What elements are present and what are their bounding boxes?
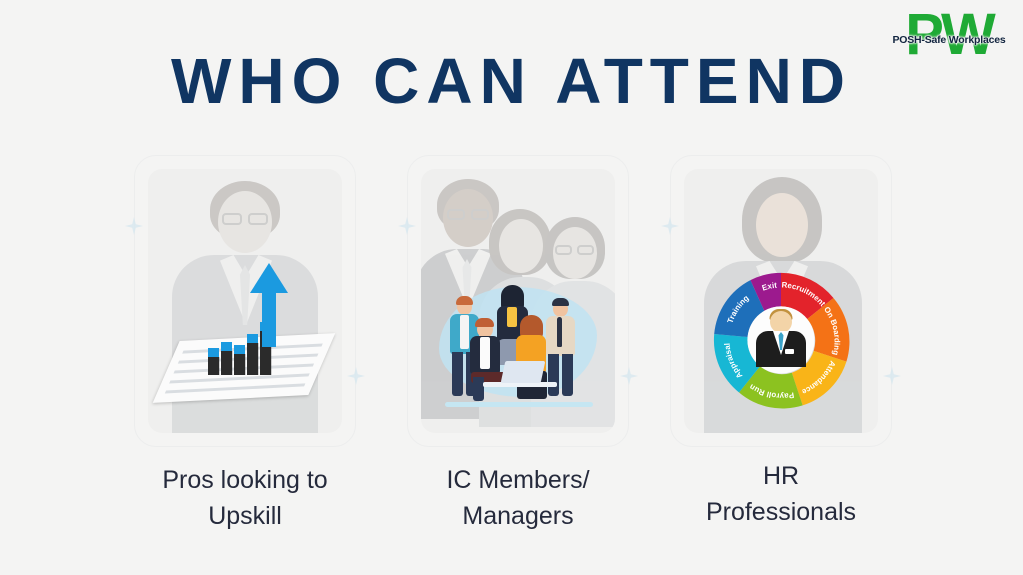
logo-tagline: POSH-Safe Workplaces xyxy=(883,34,1015,46)
caption-row: Pros looking to Upskill IC Members/ Mana… xyxy=(0,462,1023,552)
card-pros-upskill[interactable] xyxy=(134,155,356,447)
employee-icon-badge xyxy=(785,349,794,354)
page-title: WHO CAN ATTEND xyxy=(0,44,1023,118)
illustration-team-group xyxy=(429,277,607,413)
illustration-bar-chart-growth xyxy=(164,265,326,405)
employee-icon-head xyxy=(770,311,792,333)
card-image-panel xyxy=(148,169,342,433)
card-ic-members-managers[interactable] xyxy=(407,155,629,447)
illustration-hr-lifecycle-wheel: Recruitment On Boarding Attendance Payro… xyxy=(708,267,854,413)
card-caption-hr-professionals: HR Professionals xyxy=(636,458,926,530)
card-caption-ic-members-managers: IC Members/ Managers xyxy=(373,462,663,534)
growth-arrow-shaft xyxy=(262,287,276,347)
card-caption-pros-upskill: Pros looking to Upskill xyxy=(100,462,390,534)
card-row: Recruitment On Boarding Attendance Payro… xyxy=(0,155,1023,450)
growth-arrow-icon xyxy=(250,263,288,293)
card-image-panel: Recruitment On Boarding Attendance Payro… xyxy=(684,169,878,433)
card-hr-professionals[interactable]: Recruitment On Boarding Attendance Payro… xyxy=(670,155,892,447)
card-image-panel xyxy=(421,169,615,433)
laptop-icon xyxy=(501,361,546,383)
illustration-floor xyxy=(445,402,593,407)
